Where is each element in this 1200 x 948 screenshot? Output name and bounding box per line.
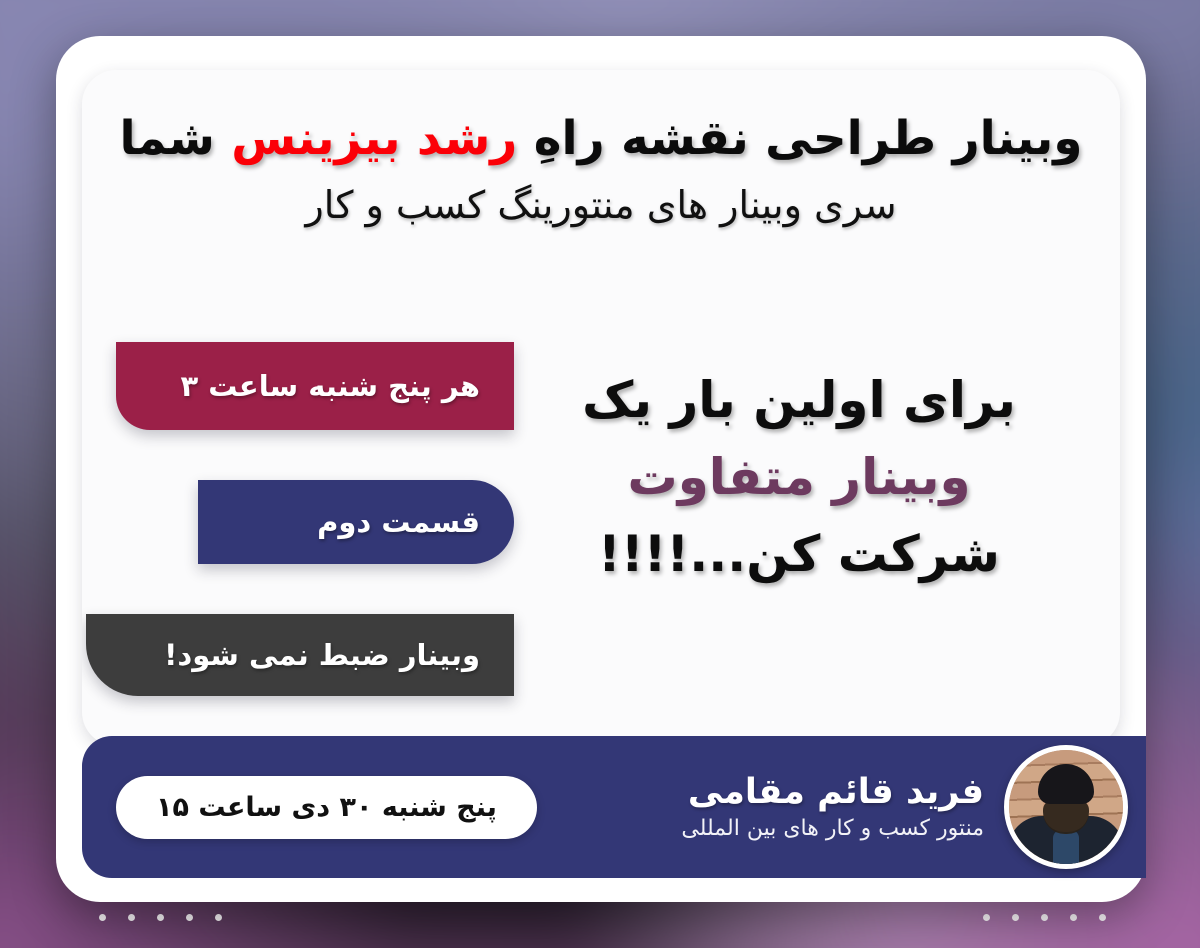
hero-line-3: شرکت کن...!!!! [534,516,1064,593]
date-pill: پنج شنبه ۳۰ دی ساعت ۱۵ [116,776,537,839]
avatar [1004,745,1128,869]
title-accent-text: رشد بیزینس [231,111,517,166]
speaker-text-block: فرید قائم مقامی منتور کسب و کار های بین … [681,772,984,843]
dot [186,914,193,921]
poster-stage: وبینار طراحی نقشه راهِ رشد بیزینس شما سر… [0,0,1200,948]
schedule-badge-label: هر پنج شنبه ساعت ۳ [180,369,480,403]
dot [1070,914,1077,921]
dot [157,914,164,921]
speaker-name: فرید قائم مقامی [681,772,984,813]
avatar-shirt [1053,830,1079,864]
headline-block: وبینار طراحی نقشه راهِ رشد بیزینس شما سر… [82,110,1120,231]
dot [1041,914,1048,921]
dot [983,914,990,921]
speaker-block: فرید قائم مقامی منتور کسب و کار های بین … [681,745,1128,869]
episode-badge-label: قسمت دوم [317,505,480,539]
speaker-role: منتور کسب و کار های بین المللی [681,816,984,842]
page-title: وبینار طراحی نقشه راهِ رشد بیزینس شما [82,110,1120,167]
speaker-footer-bar: فرید قائم مقامی منتور کسب و کار های بین … [82,736,1146,878]
title-text-after-accent: شما [119,111,231,166]
hero-message: برای اولین بار یک وبینار متفاوت شرکت کن.… [534,362,1064,593]
schedule-badge: هر پنج شنبه ساعت ۳ [116,342,514,430]
episode-badge: قسمت دوم [198,480,514,564]
no-recording-badge: وبینار ضبط نمی شود! [86,614,514,696]
page-subtitle: سری وبینار های منتورینگ کسب و کار [82,181,1120,230]
dot [215,914,222,921]
no-recording-badge-label: وبینار ضبط نمی شود! [164,638,480,672]
dot [128,914,135,921]
hero-line-1: برای اولین بار یک [534,362,1064,439]
badge-stack: هر پنج شنبه ساعت ۳ قسمت دوم وبینار ضبط ن… [82,342,514,696]
hero-line-2: وبینار متفاوت [534,439,1064,516]
title-text-before-accent: وبینار طراحی نقشه راهِ [517,111,1082,166]
dot [1012,914,1019,921]
content-panel: وبینار طراحی نقشه راهِ رشد بیزینس شما سر… [82,70,1120,746]
poster-card: وبینار طراحی نقشه راهِ رشد بیزینس شما سر… [56,36,1146,902]
dot [1099,914,1106,921]
dot [99,914,106,921]
